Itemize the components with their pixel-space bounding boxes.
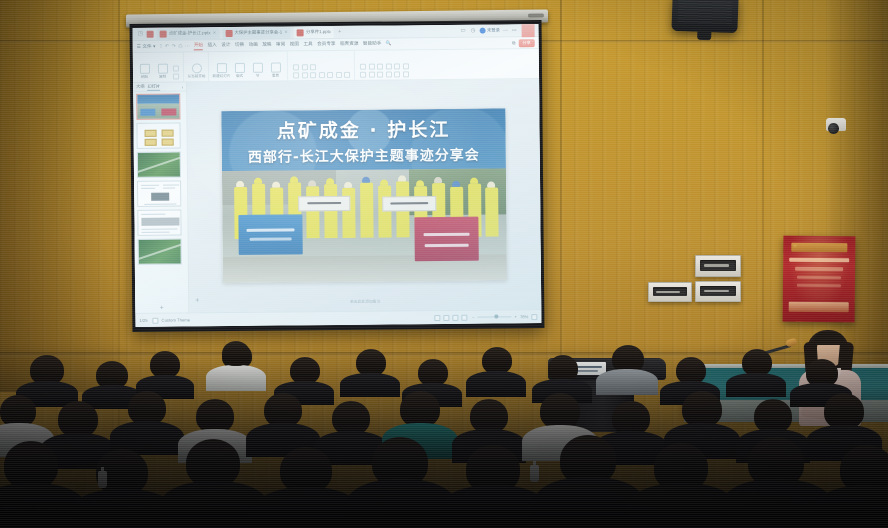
ribbon-toolbar[interactable]: 粘贴 复制 从当前开始 <box>133 49 539 83</box>
close-icon[interactable]: ✕ <box>284 29 288 35</box>
thumbnail-preview <box>138 211 180 235</box>
slide-thumbnail[interactable] <box>136 123 180 149</box>
reset-icon <box>270 63 280 73</box>
new-tab-button[interactable]: + <box>337 29 342 35</box>
view-reading-icon[interactable] <box>452 314 458 320</box>
tab-slideshow[interactable]: 放映 <box>262 41 271 49</box>
paste-icon <box>139 64 149 74</box>
notes-placeholder[interactable]: 单击此处添加备注 <box>350 300 380 305</box>
window-controls[interactable]: — ▭ <box>503 27 519 33</box>
tab-animation[interactable]: 动画 <box>249 41 258 49</box>
paragraph-row-bottom[interactable] <box>360 71 409 77</box>
status-spacer <box>195 318 429 320</box>
camera-lens <box>828 123 839 134</box>
slide-thumbnail[interactable] <box>136 94 180 120</box>
minimize-button[interactable]: — <box>503 27 508 33</box>
view-buttons[interactable] <box>434 314 467 320</box>
banner-header <box>791 243 847 253</box>
chevron-down-icon: ▾ <box>153 43 155 49</box>
zoom-out-button[interactable]: − <box>472 315 475 320</box>
bullets-icon[interactable] <box>360 64 366 70</box>
canvas-add-icon[interactable]: + <box>195 297 199 304</box>
ribbon-group-font <box>293 51 355 81</box>
help-icon[interactable]: ◷ <box>470 28 477 34</box>
electrical-panel <box>695 255 741 277</box>
file-menu-label: 文件 <box>142 43 151 49</box>
wall-shadow-left <box>0 0 118 392</box>
columns-icon[interactable] <box>394 71 400 77</box>
add-slide-button[interactable]: + <box>135 302 188 313</box>
share-button[interactable]: 分享 <box>518 39 534 47</box>
slide-thumbnail-list[interactable] <box>133 91 188 302</box>
copy-label: 复制 <box>159 75 166 80</box>
layout-icon <box>234 63 244 73</box>
tab-resources[interactable]: 稻壳资源 <box>340 40 358 48</box>
document-tab-label: 点矿成金-护长江.pptx <box>169 30 211 36</box>
tab-slides[interactable]: 幻灯片 <box>147 83 160 90</box>
tabbar-spacer <box>345 31 456 32</box>
quick-access-toolbar[interactable]: ⌷ ↶ ↷ ⎙ ⋯ <box>159 43 189 49</box>
photo-sign-right <box>382 196 436 212</box>
strikethrough-icon[interactable] <box>319 72 325 78</box>
copy-icon <box>157 64 167 74</box>
font-row-bottom[interactable] <box>293 72 350 79</box>
slide-thumbnail[interactable] <box>138 238 182 264</box>
align-left-icon[interactable] <box>360 72 366 78</box>
document-tab-label: 分享件1.pptx <box>306 29 331 35</box>
new-slide-icon <box>216 63 226 73</box>
font-shrink-icon[interactable] <box>301 64 307 70</box>
print-icon[interactable]: ⎙ <box>178 43 182 49</box>
collaborate-icon[interactable]: ⧉ <box>512 40 515 45</box>
electrical-panel <box>695 281 741 302</box>
ribbon-group-slideshow: 从当前开始 <box>189 52 209 81</box>
editor-body: 大纲 幻灯片 ‹ <box>133 79 541 313</box>
panel-slot <box>653 287 687 296</box>
panel-slot <box>700 286 736 296</box>
justify-icon[interactable] <box>385 71 391 77</box>
reset-label: 重置 <box>272 74 279 79</box>
current-slide[interactable]: 点矿成金 · 护长江 西部行-长江大保护主题事迹分享会 <box>221 108 507 283</box>
tab-start[interactable]: 开始 <box>194 42 203 50</box>
paste-button[interactable]: 粘贴 <box>137 64 152 80</box>
theme-indicator[interactable]: Custom Theme <box>153 317 191 323</box>
menubar-right-actions[interactable]: ⧉ 分享 <box>512 39 535 47</box>
photo-banner-blue <box>238 214 302 255</box>
tab-review[interactable]: 审阅 <box>276 41 285 49</box>
ppt-file-icon <box>297 29 304 36</box>
status-bar[interactable]: 1/25 Custom Theme − <box>135 309 541 327</box>
tab-transition[interactable]: 切换 <box>235 41 244 49</box>
speaker-grille <box>678 0 733 25</box>
slide-title: 点矿成金 · 护长江 <box>221 114 505 144</box>
align-center-icon[interactable] <box>369 72 375 78</box>
banner-text-line <box>797 276 841 279</box>
wps-home-icon[interactable]: ◳ <box>137 31 144 37</box>
screen-surface: ◳ 点矿成金-护长江.pptx ✕ 大保护主题事迹分享会-1 ✕ <box>133 24 542 327</box>
section-button[interactable]: 节 <box>250 63 265 79</box>
tab-insert[interactable]: 插入 <box>207 42 216 50</box>
restore-button[interactable]: ▭ <box>512 27 517 33</box>
document-tab-3[interactable]: 分享件1.pptx <box>294 27 334 38</box>
align-right-icon[interactable] <box>377 72 383 78</box>
slide-subtitle: 西部行-长江大保护主题事迹分享会 <box>222 144 506 167</box>
wps-logo-icon <box>147 30 154 37</box>
tab-view[interactable]: 视图 <box>290 41 299 49</box>
audience-shadow-gradient <box>0 343 888 528</box>
start-slideshow-button[interactable]: 从当前开始 <box>189 63 204 79</box>
view-normal-icon[interactable] <box>434 315 440 321</box>
clear-format-icon[interactable] <box>310 64 316 70</box>
file-menu-button[interactable]: ☰ 文件 ▾ <box>137 43 156 49</box>
avatar <box>479 28 485 34</box>
underline-icon[interactable] <box>310 72 316 78</box>
slide-thumbnail[interactable] <box>137 209 181 235</box>
align-text-icon[interactable] <box>402 71 408 77</box>
security-camera <box>824 118 848 138</box>
qat-more-icon[interactable]: ⋯ <box>185 43 190 49</box>
paragraph-row-top[interactable] <box>360 63 409 69</box>
close-icon[interactable]: ✕ <box>213 30 217 36</box>
electrical-panel <box>648 282 692 302</box>
close-button[interactable] <box>522 24 535 37</box>
zoom-slider-knob[interactable] <box>494 314 498 318</box>
thumbnail-preview <box>138 182 180 206</box>
bold-icon[interactable] <box>293 72 299 78</box>
tab-outline[interactable]: 大纲 <box>136 84 144 90</box>
text-effect-icon[interactable] <box>344 72 350 78</box>
format-painter-icon[interactable] <box>173 74 179 80</box>
ribbon-group-paragraph <box>360 50 413 80</box>
theme-label: Custom Theme <box>162 317 191 322</box>
cut-icon[interactable] <box>173 66 179 72</box>
slide-thumbnail[interactable] <box>137 180 181 206</box>
section-icon <box>252 63 262 73</box>
audience-seating <box>0 343 888 528</box>
slide-thumbnail[interactable] <box>137 151 181 177</box>
red-wall-banner: ★ <box>783 236 856 323</box>
view-sorter-icon[interactable] <box>443 314 449 320</box>
zoom-level: 78% <box>520 314 528 319</box>
section-label: 节 <box>256 74 260 79</box>
slide-group-photo <box>222 168 507 283</box>
banner-footer-art <box>789 302 849 313</box>
account-chip[interactable]: 未登录 <box>479 27 499 33</box>
document-tab-2[interactable]: 大保护主题事迹分享会-1 ✕ <box>222 27 291 39</box>
zoom-slider[interactable] <box>478 316 512 317</box>
menubar-spacer <box>396 43 509 44</box>
banner-text-line <box>795 267 843 272</box>
font-color-icon[interactable] <box>327 72 333 78</box>
ceiling-speaker <box>671 0 738 33</box>
hamburger-icon: ☰ <box>137 43 141 49</box>
layout-button[interactable]: 版式 <box>232 63 247 79</box>
collapse-pane-icon[interactable]: ‹ <box>182 84 183 89</box>
projection-screen: ◳ 点矿成金-护长江.pptx ✕ 大保护主题事迹分享会-1 ✕ <box>130 20 545 332</box>
ppt-file-icon <box>225 29 232 36</box>
slide-canvas-area[interactable]: 点矿成金 · 护长江 西部行-长江大保护主题事迹分享会 <box>187 79 541 312</box>
search-icon[interactable]: 🔍 <box>386 40 392 48</box>
banner-text-line <box>797 284 841 287</box>
clipboard-small-buttons[interactable] <box>173 66 179 80</box>
thumbnail-preview <box>139 240 181 264</box>
new-slide-label: 新建幻灯片 <box>213 74 231 79</box>
tab-tools[interactable]: 工具 <box>303 41 312 49</box>
paste-label: 粘贴 <box>141 75 148 80</box>
ribbon-group-slides: 新建幻灯片 版式 节 重置 <box>214 51 288 81</box>
slide-thumbnails-pane[interactable]: 大纲 幻灯片 ‹ <box>133 82 189 313</box>
wps-presentation-window[interactable]: ◳ 点矿成金-护长江.pptx ✕ 大保护主题事迹分享会-1 ✕ <box>133 24 542 327</box>
text-direction-icon[interactable] <box>402 63 408 69</box>
thumbnail-preview <box>138 153 180 177</box>
line-spacing-icon[interactable] <box>394 63 400 69</box>
paragraph-rows[interactable] <box>360 63 409 77</box>
undo-icon[interactable]: ↶ <box>165 43 169 49</box>
tab-member[interactable]: 会员专享 <box>317 41 335 49</box>
photo-sign-left <box>298 196 350 211</box>
tab-design[interactable]: 设计 <box>221 42 230 50</box>
account-label: 未登录 <box>487 27 500 33</box>
theme-icon <box>153 317 159 323</box>
save-icon[interactable]: ⌷ <box>159 43 162 49</box>
banner-text-line <box>789 258 849 263</box>
thumbnail-preview <box>137 95 179 119</box>
font-row-top[interactable] <box>293 64 350 71</box>
slide-counter: 1/25 <box>139 318 147 323</box>
fit-window-icon[interactable] <box>531 314 537 320</box>
zoom-control[interactable]: − + 78% <box>472 314 537 321</box>
start-slideshow-label: 从当前开始 <box>188 74 206 79</box>
zoom-in-button[interactable]: + <box>514 314 517 319</box>
thumbnail-preview <box>137 124 179 148</box>
numbering-icon[interactable] <box>368 64 374 70</box>
ppt-file-icon <box>160 30 167 37</box>
ribbon-tabs[interactable]: 开始 插入 设计 切换 动画 放映 审阅 视图 工具 会员专享 稻壳资源 智能助… <box>194 40 392 50</box>
photo-banner-red <box>414 217 478 262</box>
reset-button[interactable]: 重置 <box>268 63 283 79</box>
view-slideshow-icon[interactable] <box>461 314 467 320</box>
panel-slot <box>700 260 736 271</box>
tab-assistant[interactable]: 智能助手 <box>363 40 381 48</box>
italic-icon[interactable] <box>302 72 308 78</box>
font-style-row[interactable] <box>293 64 350 79</box>
document-tab-label: 大保护主题事迹分享会-1 <box>234 30 282 36</box>
font-grow-icon[interactable] <box>293 64 299 70</box>
outdent-icon[interactable] <box>377 64 383 70</box>
copy-button[interactable]: 复制 <box>155 64 170 80</box>
new-slide-button[interactable]: 新建幻灯片 <box>214 63 229 79</box>
layout-label: 版式 <box>236 74 243 79</box>
ribbon-group-clipboard: 粘贴 复制 <box>137 52 184 81</box>
window-split-icon[interactable]: ▭ <box>459 28 466 34</box>
document-tab-1[interactable]: 点矿成金-护长江.pptx ✕ <box>157 28 220 40</box>
highlight-icon[interactable] <box>336 72 342 78</box>
redo-icon[interactable]: ↷ <box>172 43 176 49</box>
play-icon <box>191 63 201 73</box>
indent-icon[interactable] <box>385 63 391 69</box>
lecture-hall-photo: ★ ◳ 点矿成金-护长江.pptx ✕ <box>0 0 888 528</box>
